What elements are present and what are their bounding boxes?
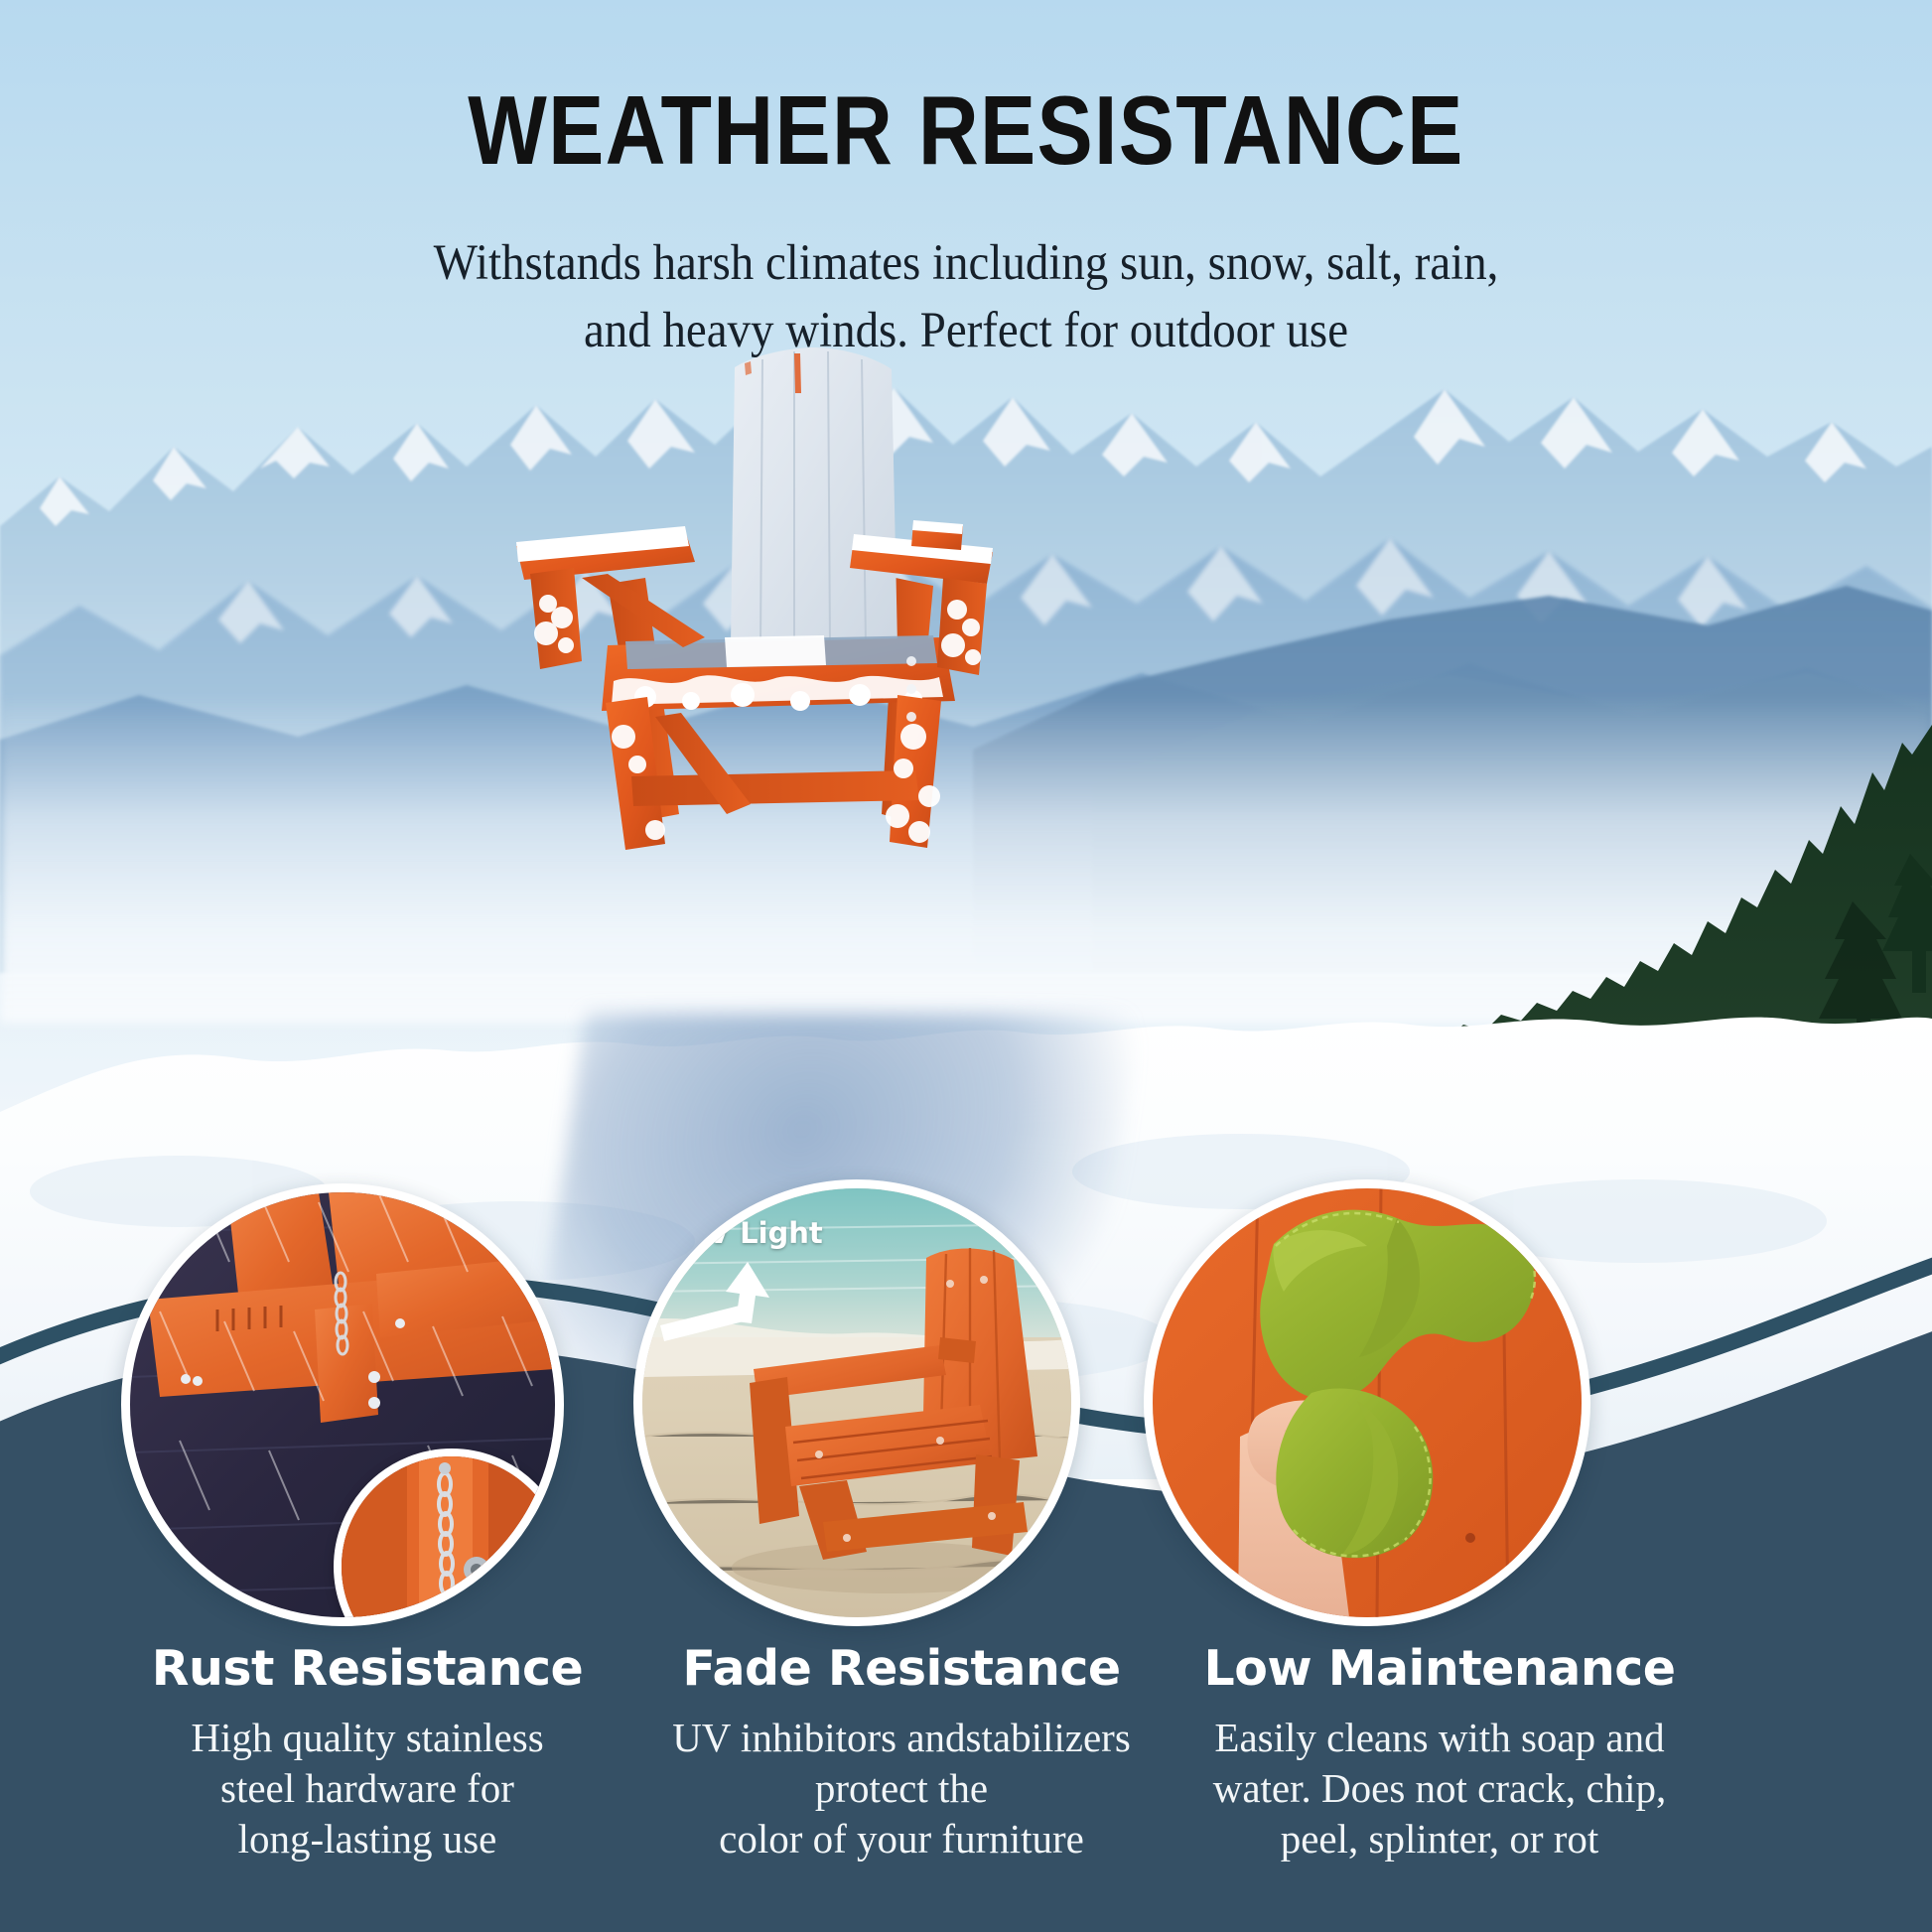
feature-image-fade-resistance: UV Light [633, 1179, 1080, 1626]
product-infographic: WEATHER RESISTANCE Withstands harsh clim… [0, 0, 1932, 1932]
uv-light-arrow-icon [652, 1244, 841, 1363]
feature-title-rust-resistance: Rust Resistance [60, 1640, 675, 1697]
feature-text-rust-resistance: Rust Resistance High quality stainless s… [60, 1640, 675, 1863]
feature-description-low-maintenance: Easily cleans with soap and water. Does … [1092, 1713, 1787, 1863]
feature-image-low-maintenance [1144, 1179, 1590, 1626]
feature-title-low-maintenance: Low Maintenance [1092, 1640, 1787, 1697]
uv-light-label: UV Light [684, 1216, 823, 1250]
feature-text-low-maintenance: Low Maintenance Easily cleans with soap … [1092, 1640, 1787, 1863]
feature-image-rust-resistance [121, 1183, 564, 1626]
feature-description-rust-resistance: High quality stainless steel hardware fo… [60, 1713, 675, 1863]
